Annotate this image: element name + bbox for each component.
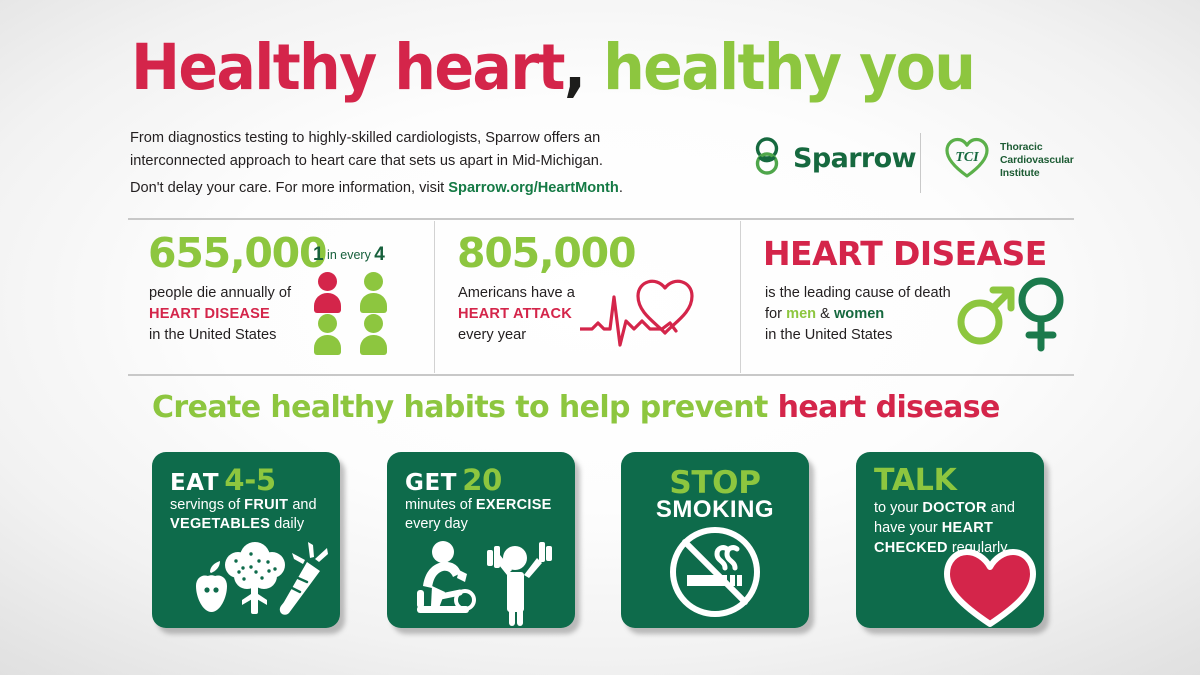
sparrow-wordmark: Sparrow <box>793 143 916 174</box>
habits-heading-red: heart disease <box>778 390 1000 425</box>
stat-2-line-1: Americans have a <box>458 283 575 304</box>
card-1-keyword: EAT <box>170 470 219 496</box>
stat-3-description: is the leading cause of death for men & … <box>765 283 951 346</box>
stat-3-line-2: for men & women <box>765 304 951 325</box>
stats-row: 655,000 people die annually of HEART DIS… <box>128 219 1074 375</box>
person-icon-affected <box>313 272 343 312</box>
stat-panel-leading-cause: HEART DISEASE is the leading cause of de… <box>741 219 1074 375</box>
habit-card-eat[interactable]: EAT 4-5 servings of FRUIT and VEGETABLES… <box>152 452 340 628</box>
tci-logo[interactable]: TCI Thoracic Cardiovascular Institute <box>943 135 1074 186</box>
title-comma: , <box>564 31 585 104</box>
stat-3-men: men <box>786 306 816 322</box>
infographic-canvas: Healthy heart, healthy you From diagnost… <box>0 0 1200 675</box>
card-2-value: 20 <box>462 463 502 497</box>
stat-3-title: HEART DISEASE <box>763 237 1047 270</box>
page-title: Healthy heart, healthy you <box>131 36 968 99</box>
card-4-keyword: TALK <box>874 463 957 498</box>
intro-line-3-text: Don't delay your care. For more informat… <box>130 180 448 196</box>
intro-line-3: Don't delay your care. For more informat… <box>130 177 730 200</box>
habit-card-exercise[interactable]: GET 20 minutes of EXERCISE every day <box>387 452 575 628</box>
heart-icon <box>856 520 1044 628</box>
stat-2-description: Americans have a HEART ATTACK every year <box>458 283 575 346</box>
person-icon <box>359 272 389 312</box>
no-smoking-icon <box>621 520 809 628</box>
ratio-graphic: 1 in every 4 <box>313 245 413 354</box>
tci-line-2: Cardiovascular <box>1000 154 1074 167</box>
ratio-one: 1 <box>313 244 324 265</box>
card-3-value: SMOKING <box>656 496 774 523</box>
stat-3-line-3: in the United States <box>765 325 951 346</box>
person-icon <box>359 314 389 354</box>
stat-3-amp: & <box>816 306 834 322</box>
tci-heart-icon: TCI <box>943 135 991 186</box>
female-symbol-icon <box>1022 281 1060 348</box>
stat-3-for: for <box>765 306 786 322</box>
habits-heading-green: Create healthy habits to help prevent <box>152 390 778 425</box>
stat-1-description: people die annually of HEART DISEASE in … <box>149 283 291 346</box>
card-4-heading: TALK <box>874 463 957 498</box>
exercise-figures-icon <box>387 520 575 628</box>
fruit-vegetables-icon <box>152 520 340 628</box>
intro-line-3-period: . <box>619 180 623 196</box>
ratio-four: 4 <box>374 244 385 265</box>
sparrow-heartmonth-link[interactable]: Sparrow.org/HeartMonth <box>448 180 619 196</box>
person-icon <box>313 314 343 354</box>
card-1-heading: EAT 4-5 <box>170 463 276 497</box>
stat-panel-deaths: 655,000 people die annually of HEART DIS… <box>128 219 434 375</box>
gender-symbols <box>956 267 1066 358</box>
logo-divider <box>920 133 921 193</box>
stat-2-line-3: every year <box>458 325 575 346</box>
svg-text:TCI: TCI <box>955 150 979 165</box>
card-1-text-1: servings of <box>170 497 244 513</box>
stat-panel-heart-attack: 805,000 Americans have a HEART ATTACK ev… <box>435 219 740 375</box>
tci-wordmark: Thoracic Cardiovascular Institute <box>1000 141 1074 180</box>
intro-paragraph: From diagnostics testing to highly-skill… <box>130 127 730 200</box>
stat-3-line-1: is the leading cause of death <box>765 283 951 304</box>
habit-card-stop-smoking[interactable]: STOP SMOKING <box>621 452 809 628</box>
card-1-value: 4-5 <box>224 463 276 497</box>
ekg-heart-icon <box>580 271 740 361</box>
card-4-bold-1: DOCTOR <box>922 500 986 516</box>
title-part-2: healthy you <box>584 31 974 104</box>
card-2-heading: GET 20 <box>405 463 502 497</box>
ratio-label: 1 in every 4 <box>313 245 413 264</box>
stat-2-number: 805,000 <box>457 233 635 274</box>
male-symbol-icon <box>961 290 1011 341</box>
title-part-1: Healthy heart <box>131 31 564 104</box>
tci-line-1: Thoracic <box>1000 141 1074 154</box>
card-2-keyword: GET <box>405 470 457 496</box>
sparrow-mark-icon <box>750 136 784 181</box>
ratio-mid: in every <box>324 248 375 262</box>
habits-heading: Create healthy habits to help prevent he… <box>152 390 1072 425</box>
stat-2-highlight: HEART ATTACK <box>458 304 575 325</box>
intro-line-1: From diagnostics testing to highly-skill… <box>130 127 730 150</box>
sparrow-logo[interactable]: Sparrow <box>750 136 916 181</box>
habit-card-talk-doctor[interactable]: TALK to your DOCTOR and have your HEART … <box>856 452 1044 628</box>
stat-1-line-3: in the United States <box>149 325 291 346</box>
intro-line-2: interconnected approach to heart care th… <box>130 150 730 173</box>
card-1-text-2: and <box>288 497 316 513</box>
card-1-bold-1: FRUIT <box>244 497 288 513</box>
card-2-text-1: minutes of <box>405 497 476 513</box>
tci-line-3: Institute <box>1000 167 1074 180</box>
card-4-text-1: to your <box>874 500 922 516</box>
stat-3-women: women <box>834 306 884 322</box>
stat-1-number: 655,000 <box>148 233 326 274</box>
logo-group: Sparrow TCI Thoracic Cardiovascular Inst… <box>745 133 1075 195</box>
people-icon-grid <box>313 272 413 354</box>
stat-1-line-1: people die annually of <box>149 283 291 304</box>
stat-1-highlight: HEART DISEASE <box>149 304 291 325</box>
card-2-bold-1: EXERCISE <box>476 497 552 513</box>
